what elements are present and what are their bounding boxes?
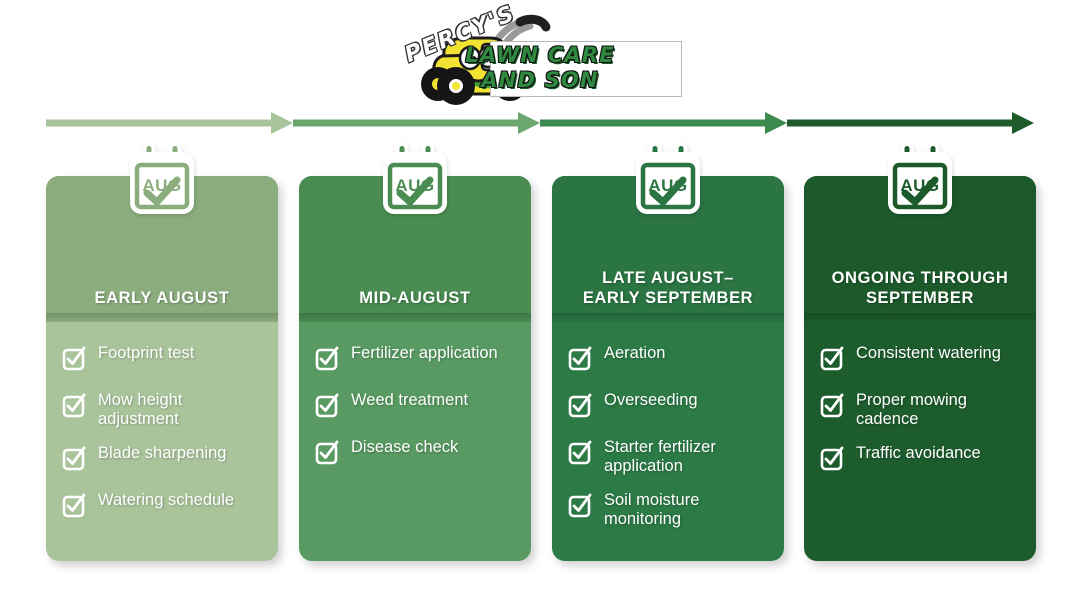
- card-checklist-mid-august: Fertilizer applicationWeed treatmentDise…: [299, 322, 531, 561]
- checklist-item[interactable]: Overseeding: [568, 391, 770, 423]
- checklist-item[interactable]: Fertilizer application: [315, 344, 517, 376]
- checkbox-checked-icon[interactable]: [568, 393, 593, 423]
- checklist-item[interactable]: Disease check: [315, 438, 517, 470]
- calendar-ring-1: [398, 144, 407, 164]
- checkbox-checked-icon[interactable]: [820, 346, 845, 376]
- checklist-item-label: Mow height adjustment: [98, 391, 264, 429]
- checkbox-checked-icon[interactable]: [62, 346, 87, 376]
- infographic-page: PERCY'S LAWN CARE AND SON EARLY AUGUSTFo…: [0, 0, 1080, 603]
- checkbox-checked-icon: [820, 346, 845, 371]
- checkbox-checked-icon: [820, 393, 845, 418]
- checkbox-checked-icon[interactable]: [568, 440, 593, 470]
- checklist-item[interactable]: Mow height adjustment: [62, 391, 264, 429]
- checkbox-checked-icon[interactable]: [568, 346, 593, 376]
- card-header-mid-august: MID-AUGUST: [299, 176, 531, 322]
- checklist-item[interactable]: Aeration: [568, 344, 770, 376]
- checkbox-checked-icon: [568, 393, 593, 418]
- checklist-item[interactable]: Weed treatment: [315, 391, 517, 423]
- timeline-arrow-segment-1: [46, 112, 293, 134]
- checkbox-checked-icon[interactable]: [62, 393, 87, 423]
- checkbox-checked-icon: [315, 440, 340, 465]
- timeline-arrow-segment-4: [787, 112, 1034, 134]
- checkbox-checked-icon: [568, 493, 593, 518]
- checklist-item-label: Proper mowing cadence: [856, 391, 1022, 429]
- card-header-ongoing-through-september: ONGOING THROUGH SEPTEMBER: [804, 176, 1036, 322]
- timeline-cards: EARLY AUGUSTFootprint testMow height adj…: [0, 152, 1080, 572]
- checkbox-checked-icon[interactable]: [315, 346, 340, 376]
- calendar-ring-2: [424, 144, 433, 164]
- card-header-early-august: EARLY AUGUST: [46, 176, 278, 322]
- calendar-ring-2: [677, 144, 686, 164]
- checklist-item[interactable]: Footprint test: [62, 344, 264, 376]
- checkbox-checked-icon[interactable]: [62, 446, 87, 476]
- card-checklist-late-august-early-september: AerationOverseedingStarter fertilizer ap…: [552, 322, 784, 561]
- card-title: MID-AUGUST: [351, 288, 478, 308]
- brand-logo: PERCY'S LAWN CARE AND SON: [390, 8, 690, 106]
- timeline-arrow-svg: [0, 105, 1080, 141]
- checkbox-checked-icon[interactable]: [315, 440, 340, 470]
- checkbox-checked-icon[interactable]: [820, 446, 845, 476]
- checklist-item-label: Blade sharpening: [98, 444, 226, 463]
- calendar-ring-2: [929, 144, 938, 164]
- checklist-item-label: Soil moisture monitoring: [604, 491, 770, 529]
- timeline-arrow: [0, 105, 1080, 141]
- checkbox-checked-icon: [62, 346, 87, 371]
- checklist-item-label: Aeration: [604, 344, 665, 363]
- checklist-item-label: Weed treatment: [351, 391, 468, 410]
- checkbox-checked-icon[interactable]: [62, 493, 87, 523]
- card-checklist-ongoing-through-september: Consistent wateringProper mowing cadence…: [804, 322, 1036, 561]
- checkbox-checked-icon: [820, 446, 845, 471]
- timeline-card-ongoing-through-september[interactable]: ONGOING THROUGH SEPTEMBERConsistent wate…: [804, 176, 1036, 561]
- checkbox-checked-icon[interactable]: [568, 493, 593, 523]
- checkbox-checked-icon: [568, 346, 593, 371]
- card-title: EARLY AUGUST: [87, 288, 238, 308]
- logo-line-two: AND SON: [390, 68, 690, 92]
- calendar-ring-1: [145, 144, 154, 164]
- checklist-item-label: Overseeding: [604, 391, 698, 410]
- card-title: LATE AUGUST–EARLY SEPTEMBER: [575, 268, 761, 308]
- checkbox-checked-icon[interactable]: [820, 393, 845, 423]
- checklist-item-label: Traffic avoidance: [856, 444, 981, 463]
- checklist-item[interactable]: Consistent watering: [820, 344, 1022, 376]
- card-header-late-august-early-september: LATE AUGUST–EARLY SEPTEMBER: [552, 176, 784, 322]
- checklist-item[interactable]: Traffic avoidance: [820, 444, 1022, 476]
- timeline-arrow-segment-3: [540, 112, 787, 134]
- checkbox-checked-icon: [315, 346, 340, 371]
- checkbox-checked-icon: [62, 393, 87, 418]
- timeline-card-late-august-early-september[interactable]: LATE AUGUST–EARLY SEPTEMBERAerationOvers…: [552, 176, 784, 561]
- checkbox-checked-icon: [62, 493, 87, 518]
- calendar-ring-2: [171, 144, 180, 164]
- checklist-item-label: Starter fertilizer application: [604, 438, 770, 476]
- checkbox-checked-icon: [62, 446, 87, 471]
- checkbox-checked-icon: [568, 440, 593, 465]
- timeline-card-mid-august[interactable]: MID-AUGUSTFertilizer applicationWeed tre…: [299, 176, 531, 561]
- checklist-item-label: Consistent watering: [856, 344, 1001, 363]
- checklist-item[interactable]: Starter fertilizer application: [568, 438, 770, 476]
- timeline-arrow-segment-2: [293, 112, 540, 134]
- checklist-item[interactable]: Proper mowing cadence: [820, 391, 1022, 429]
- calendar-ring-1: [903, 144, 912, 164]
- calendar-ring-1: [651, 144, 660, 164]
- checklist-item-label: Disease check: [351, 438, 458, 457]
- checklist-item[interactable]: Blade sharpening: [62, 444, 264, 476]
- card-checklist-early-august: Footprint testMow height adjustmentBlade…: [46, 322, 278, 561]
- checklist-item-label: Footprint test: [98, 344, 194, 363]
- checklist-item-label: Fertilizer application: [351, 344, 498, 363]
- checklist-item-label: Watering schedule: [98, 491, 234, 510]
- card-title: ONGOING THROUGH SEPTEMBER: [804, 268, 1036, 308]
- checklist-item[interactable]: Watering schedule: [62, 491, 264, 523]
- checkbox-checked-icon[interactable]: [315, 393, 340, 423]
- checkbox-checked-icon: [315, 393, 340, 418]
- checklist-item[interactable]: Soil moisture monitoring: [568, 491, 770, 529]
- timeline-card-early-august[interactable]: EARLY AUGUSTFootprint testMow height adj…: [46, 176, 278, 561]
